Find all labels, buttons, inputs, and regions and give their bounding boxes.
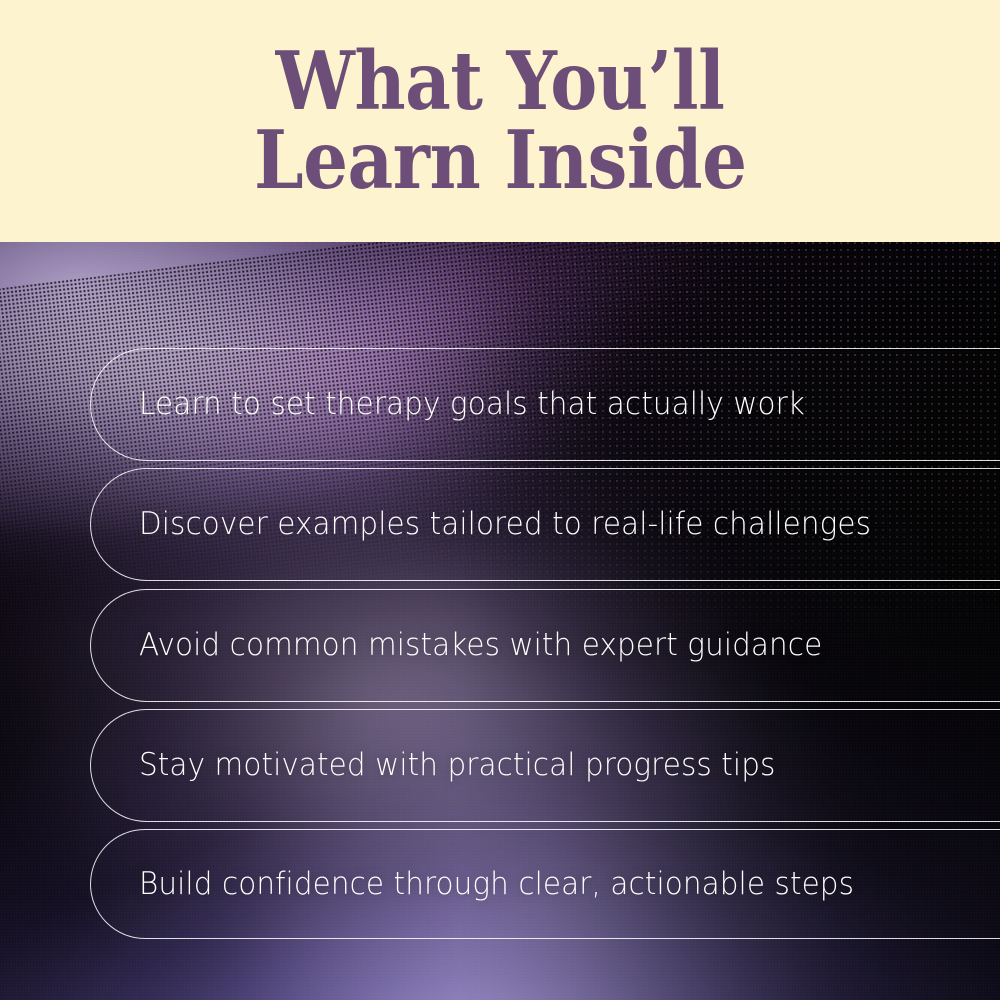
benefit-pill-5-label: Build confidence through clear, actionab…: [139, 867, 854, 901]
benefit-pill-3-label: Avoid common mistakes with expert guidan…: [139, 628, 822, 662]
page-title-line-1: What You’ll: [276, 42, 725, 121]
page-title-line-2: Learn Inside: [254, 121, 746, 200]
benefit-pill-2-label: Discover examples tailored to real-life …: [139, 507, 871, 541]
header-banner: What You’ll Learn Inside: [0, 0, 1000, 242]
benefit-pill-2[interactable]: Discover examples tailored to real-life …: [90, 468, 1000, 581]
benefit-pill-5[interactable]: Build confidence through clear, actionab…: [90, 829, 1000, 939]
benefit-pill-1-label: Learn to set therapy goals that actually…: [139, 387, 805, 421]
benefit-pill-4[interactable]: Stay motivated with practical progress t…: [90, 709, 1000, 822]
benefit-pill-1[interactable]: Learn to set therapy goals that actually…: [90, 348, 1000, 461]
benefit-pill-4-label: Stay motivated with practical progress t…: [139, 748, 775, 782]
poster-canvas: What You’ll Learn Inside Learn to set th…: [0, 0, 1000, 1000]
benefit-pill-3[interactable]: Avoid common mistakes with expert guidan…: [90, 589, 1000, 702]
